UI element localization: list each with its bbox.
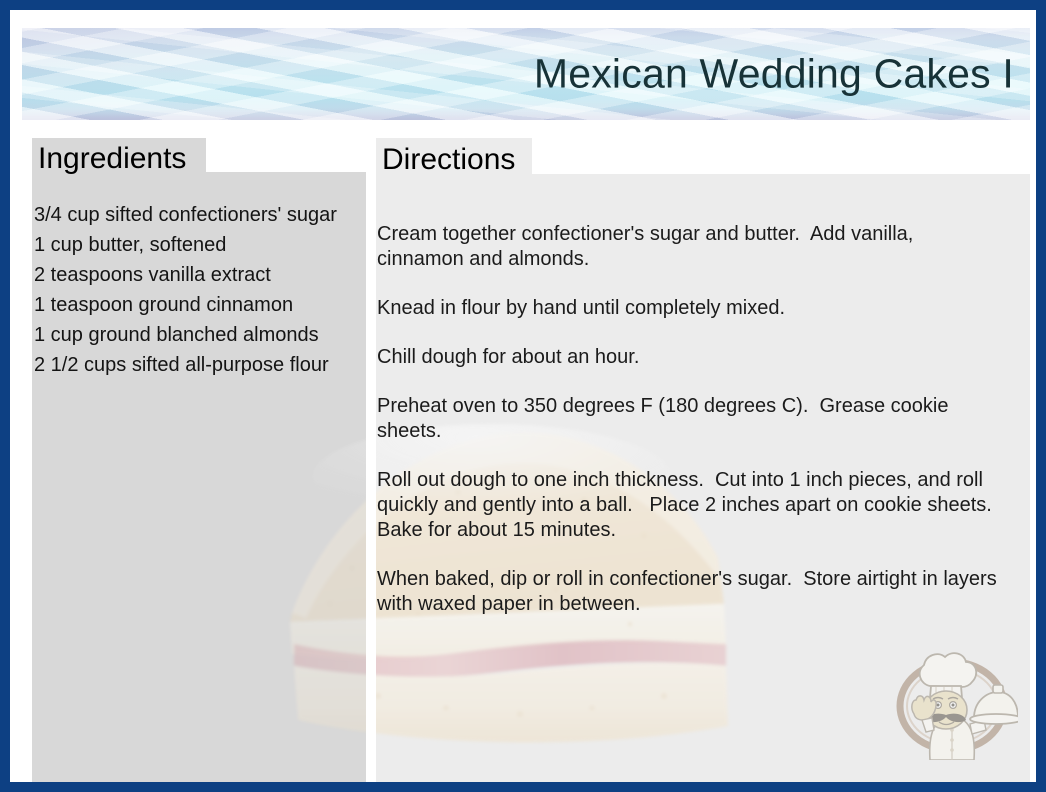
direction-step: Roll out dough to one inch thickness. Cu… bbox=[377, 468, 1005, 543]
direction-step: Knead in flour by hand until completely … bbox=[377, 296, 1005, 321]
ingredients-heading: Ingredients bbox=[38, 142, 186, 176]
directions-heading: Directions bbox=[382, 143, 515, 177]
direction-step: Chill dough for about an hour. bbox=[377, 345, 1005, 370]
directions-list: Cream together confectioner's sugar and … bbox=[377, 202, 1005, 617]
list-item: 3/4 cup sifted confectioners' sugar bbox=[34, 200, 364, 230]
recipe-slide: Mexican Wedding Cakes I Ingredients Dire… bbox=[0, 0, 1046, 792]
direction-step: Preheat oven to 350 degrees F (180 degre… bbox=[377, 394, 1005, 444]
list-item: 2 1/2 cups sifted all-purpose flour bbox=[34, 350, 364, 380]
page-title: Mexican Wedding Cakes I bbox=[534, 51, 1014, 98]
panel-gutter bbox=[366, 408, 376, 760]
direction-step: Cream together confectioner's sugar and … bbox=[377, 222, 1005, 272]
list-item: 1 teaspoon ground cinnamon bbox=[34, 290, 364, 320]
tab-directions: Directions bbox=[376, 138, 532, 182]
ingredients-list: 3/4 cup sifted confectioners' sugar 1 cu… bbox=[34, 200, 364, 380]
tab-ingredients: Ingredients bbox=[32, 138, 206, 180]
list-item: 1 cup butter, softened bbox=[34, 230, 364, 260]
title-banner: Mexican Wedding Cakes I bbox=[22, 28, 1030, 120]
direction-step: When baked, dip or roll in confectioner'… bbox=[377, 567, 1005, 617]
list-item: 1 cup ground blanched almonds bbox=[34, 320, 364, 350]
list-item: 2 teaspoons vanilla extract bbox=[34, 260, 364, 290]
